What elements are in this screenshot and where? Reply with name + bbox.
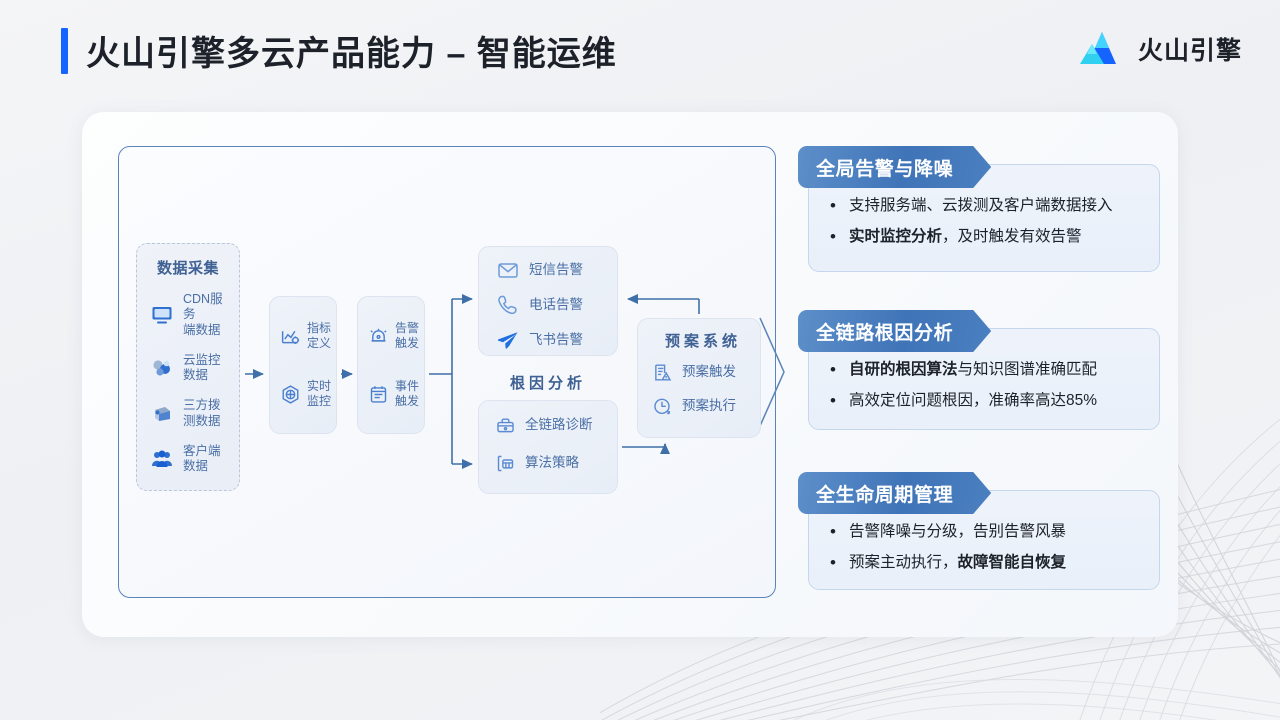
alarm-bell-icon — [368, 326, 389, 347]
event-list-icon — [368, 384, 389, 405]
phone-icon — [496, 293, 520, 317]
title-accent-bar — [61, 28, 68, 74]
list-item: 短信告警 — [496, 258, 617, 282]
root-cause-box: 全链路诊断 算法策略 — [478, 400, 618, 494]
card-heading-ribbon: 全生命周期管理 — [798, 472, 991, 514]
list-item-label: 短信告警 — [529, 262, 583, 278]
list-item: 全链路诊断 — [495, 415, 617, 436]
card-heading-ribbon: 全链路根因分析 — [798, 310, 991, 352]
list-item-label: 三方拨 测数据 — [183, 398, 221, 429]
toolbox-icon — [495, 415, 516, 436]
list-item: 飞书告警 — [496, 328, 617, 352]
bullet-suffix: 高效定位问题根因，准确率高达85% — [849, 392, 1097, 409]
list-item: 实时监控分析，及时触发有效告警 — [823, 226, 1145, 248]
cloud-monitor-icon — [150, 356, 174, 380]
list-item-label: CDN服务 端数据 — [183, 292, 229, 338]
algorithm-icon — [495, 453, 516, 474]
list-item-label: 飞书告警 — [529, 332, 583, 348]
list-item: CDN服务 端数据 — [147, 292, 229, 338]
list-item-label: 事件 触发 — [395, 379, 419, 408]
plan-execute-icon — [652, 396, 673, 417]
list-item-label: 指标 定义 — [307, 321, 331, 350]
feishu-send-icon — [496, 328, 520, 352]
card-bullet-list: 告警降噪与分级，告别告警风暴 预案主动执行，故障智能自恢复 — [823, 521, 1145, 574]
plan-system-title: 预案系统 — [646, 330, 760, 351]
list-item: 事件 触发 — [368, 379, 424, 408]
list-item: 三方拨 测数据 — [147, 398, 229, 429]
root-cause-title: 根因分析 — [478, 372, 618, 393]
brand-name: 火山引擎 — [1138, 31, 1242, 67]
volcano-logo-icon — [1080, 30, 1128, 68]
list-item-label: 全链路诊断 — [525, 417, 593, 433]
alarm-stage-box: 告警 触发 事件 触发 — [357, 296, 425, 434]
alert-channels-box: 短信告警 电话告警 飞书告警 — [478, 246, 618, 356]
list-item-label: 算法策略 — [525, 455, 579, 471]
list-item: 告警降噪与分级，告别告警风暴 — [823, 521, 1145, 543]
list-item: 支持服务端、云拨测及客户端数据接入 — [823, 195, 1145, 217]
bullet-suffix: 告警降噪与分级，告别告警风暴 — [849, 523, 1066, 540]
list-item-label: 预案执行 — [682, 398, 736, 414]
list-item: 实时 监控 — [280, 379, 336, 408]
envelope-icon — [496, 258, 520, 282]
plan-trigger-icon — [652, 362, 673, 383]
list-item: 客户端 数据 — [147, 444, 229, 475]
list-item-label: 预案触发 — [682, 364, 736, 380]
monitor-icon — [150, 303, 174, 327]
list-item: 自研的根因算法与知识图谱准确匹配 — [823, 359, 1145, 381]
metric-stage-box: 指标 定义 实时 监控 — [269, 296, 337, 434]
list-item: 预案主动执行，故障智能自恢复 — [823, 552, 1145, 574]
list-item-label: 电话告警 — [529, 297, 583, 313]
plan-system-box: 预案系统 预案触发 预案执行 — [637, 318, 761, 438]
list-item: 指标 定义 — [280, 321, 336, 350]
users-icon — [150, 447, 174, 471]
page-title: 火山引擎多云产品能力 – 智能运维 — [86, 26, 617, 75]
bullet-suffix: ，及时触发有效告警 — [942, 228, 1082, 245]
list-item: 云监控 数据 — [147, 353, 229, 384]
root-cause-title-wrap: 根因分析 — [478, 372, 618, 393]
card-bullet-list: 支持服务端、云拨测及客户端数据接入 实时监控分析，及时触发有效告警 — [823, 195, 1145, 248]
bullet-suffix: 与知识图谱准确匹配 — [958, 361, 1098, 378]
bullet-bold: 故障智能自恢复 — [958, 554, 1067, 571]
slide-canvas: 火山引擎多云产品能力 – 智能运维 火山引擎 — [0, 0, 1280, 720]
list-item-label: 云监控 数据 — [183, 353, 221, 384]
brand-logo: 火山引擎 — [1080, 30, 1242, 68]
bullet-prefix: 预案主动执行， — [849, 554, 958, 571]
card-bullet-list: 自研的根因算法与知识图谱准确匹配 高效定位问题根因，准确率高达85% — [823, 359, 1145, 412]
data-collection-title: 数据采集 — [147, 257, 229, 278]
list-item: 告警 触发 — [368, 321, 424, 350]
list-item: 算法策略 — [495, 453, 617, 474]
list-item-label: 客户端 数据 — [183, 444, 221, 475]
data-collection-box: 数据采集 CDN服务 端数据 云监控 数据 — [136, 243, 240, 491]
bullet-bold: 实时监控分析 — [849, 228, 942, 245]
bullet-suffix: 支持服务端、云拨测及客户端数据接入 — [849, 197, 1113, 214]
slide-header: 火山引擎多云产品能力 – 智能运维 火山引擎 — [0, 0, 1280, 96]
metric-chart-icon — [280, 326, 301, 347]
list-item: 预案触发 — [652, 362, 760, 383]
list-item: 预案执行 — [652, 396, 760, 417]
realtime-monitor-icon — [280, 384, 301, 405]
list-item: 电话告警 — [496, 293, 617, 317]
list-item: 高效定位问题根因，准确率高达85% — [823, 390, 1145, 412]
list-item-label: 实时 监控 — [307, 379, 331, 408]
bullet-bold: 自研的根因算法 — [849, 361, 958, 378]
list-item-label: 告警 触发 — [395, 321, 419, 350]
card-heading-ribbon: 全局告警与降噪 — [798, 146, 991, 188]
third-party-probe-icon — [150, 402, 174, 426]
